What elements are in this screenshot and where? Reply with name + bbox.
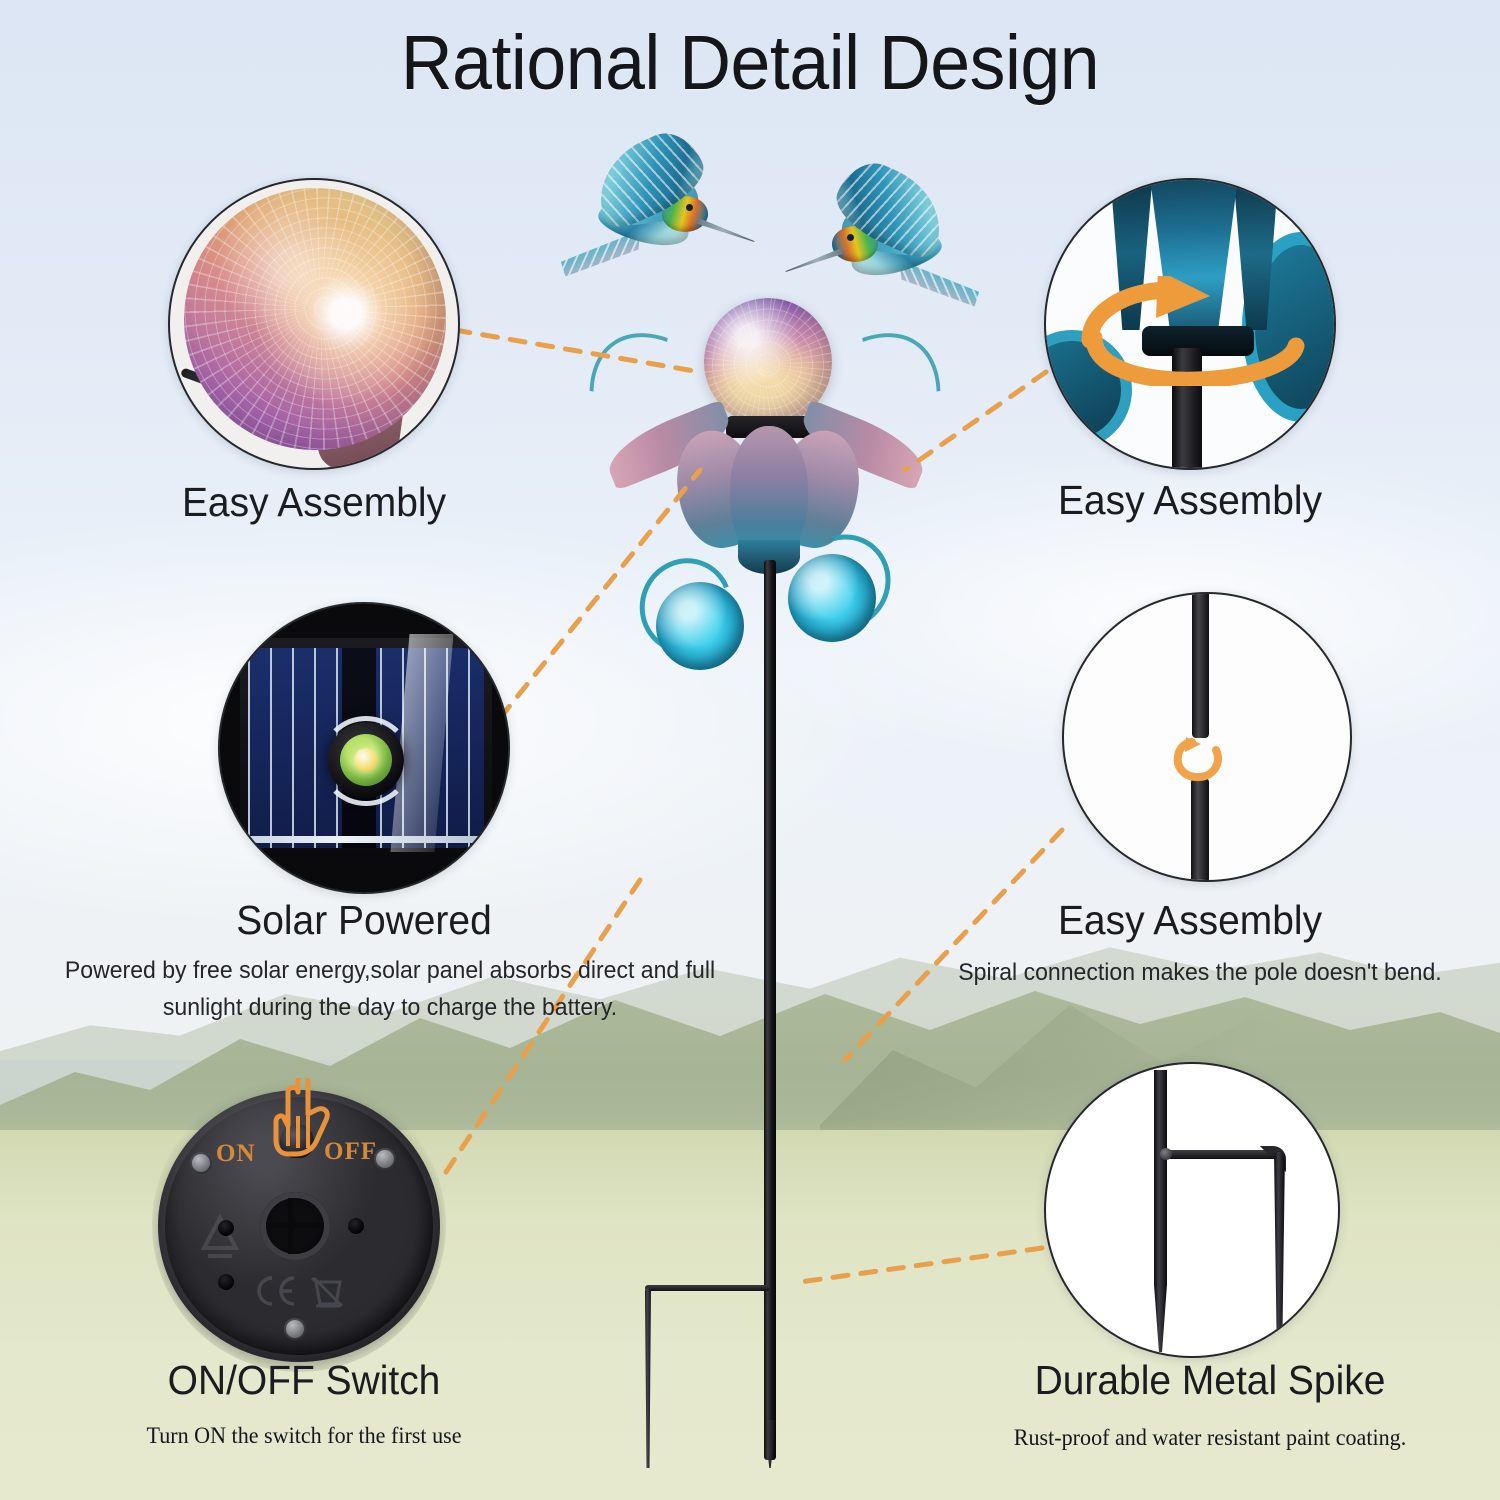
feature-title-spiral-connection: Easy Assembly — [953, 898, 1428, 943]
detail-circle-spiral-connection — [1062, 592, 1352, 882]
pointing-hand-icon — [268, 1078, 340, 1160]
recycle-triangle-icon — [190, 1210, 250, 1276]
page-title: Rational Detail Design — [53, 22, 1448, 105]
rotation-arrow-icon — [1070, 276, 1306, 386]
flower-petal — [730, 426, 808, 558]
hummingbird-eye — [847, 234, 854, 241]
solar-busbar — [248, 836, 484, 843]
hummingbird-beak — [785, 248, 843, 274]
vent-hole — [218, 1220, 234, 1236]
teal-disc-left — [656, 582, 744, 670]
switch-on-label: ON — [216, 1140, 256, 1168]
screw — [284, 1318, 306, 1340]
feature-caption-metal-spike: Rust-proof and water resistant paint coa… — [941, 1420, 1479, 1456]
black-pole — [764, 560, 776, 1460]
ground-stake-leg — [645, 1288, 651, 1468]
ground-stake-arm — [645, 1285, 770, 1291]
pole-socket-hole — [260, 1192, 330, 1260]
screw — [374, 1148, 396, 1170]
feature-title-metal-spike: Durable Metal Spike — [954, 1358, 1467, 1403]
pole-segment-lower — [1191, 778, 1209, 882]
feature-caption-spiral-connection: Spiral connection makes the pole doesn't… — [912, 954, 1488, 991]
detail-circle-metal-spike — [1044, 1062, 1340, 1358]
feature-title-crackle-ball: Easy Assembly — [77, 480, 552, 525]
detail-circle-twist-base — [1044, 178, 1336, 470]
ce-weee-mark-icon — [254, 1274, 348, 1308]
ground-stake-icon — [1154, 1070, 1167, 1352]
feature-caption-onoff-switch: Turn ON the switch for the first use — [54, 1418, 553, 1454]
led-bulb-icon — [354, 748, 378, 772]
hummingbird-left — [570, 140, 740, 290]
feature-title-twist-base: Easy Assembly — [953, 478, 1428, 523]
hummingbird-eye — [686, 204, 693, 211]
spiral-rotate-icon — [1170, 736, 1232, 784]
hummingbird-right — [800, 170, 970, 320]
detail-circle-solar-panel — [218, 602, 510, 894]
feature-caption-solar-powered: Powered by free solar energy,solar panel… — [64, 952, 717, 1026]
detail-circle-crackle-ball — [168, 178, 460, 470]
pole-segment-upper — [1192, 592, 1209, 738]
vent-hole — [218, 1274, 234, 1290]
screw — [190, 1152, 212, 1174]
hummingbird-beak — [697, 218, 755, 244]
product-illustration — [560, 130, 980, 1460]
crackle-glass-ball-icon — [184, 188, 446, 450]
feature-title-onoff-switch: ON/OFF Switch — [57, 1358, 551, 1403]
feature-title-solar-powered: Solar Powered — [79, 898, 649, 943]
detail-circle-onoff-switch: ON OFF — [152, 1078, 446, 1372]
vent-hole — [348, 1218, 364, 1234]
stake-second-leg — [1274, 1152, 1285, 1356]
stake-rivet — [1160, 1148, 1172, 1160]
teal-disc-right — [788, 554, 876, 642]
